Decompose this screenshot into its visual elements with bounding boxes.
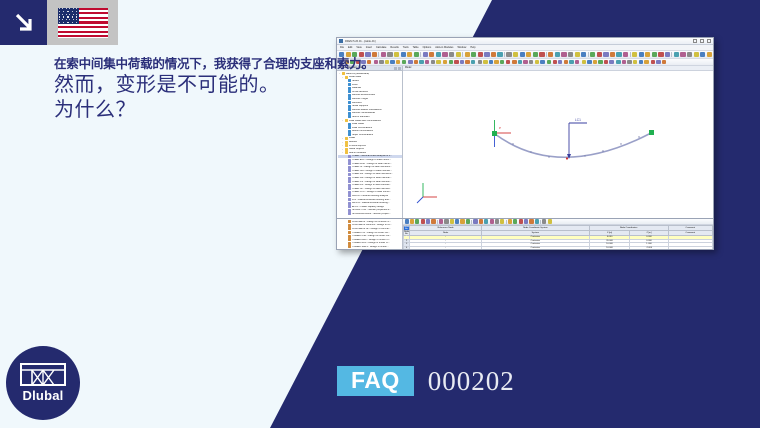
toolbar-button-49[interactable] xyxy=(632,52,637,57)
slide-root: 在索中间集中荷载的情况下，我获得了合理的支座和索力。 然而，变形是不可能的。 为… xyxy=(0,0,760,428)
tree-node-icon xyxy=(348,187,351,190)
toolbar-button-23[interactable] xyxy=(519,219,523,223)
toolbar-separator xyxy=(506,220,507,224)
menu-item-table[interactable]: Table xyxy=(413,46,419,49)
tree-node-icon xyxy=(348,205,351,208)
tree-node-label: STEEL SIA - Design of steel member... xyxy=(352,170,392,172)
tree-node-label: STEEL AISC - Design of steel memb... xyxy=(352,163,392,165)
toolbar-button-24[interactable] xyxy=(484,52,489,57)
minimize-button[interactable] xyxy=(693,39,697,43)
tree-node-label: STEEL AS - Design of steel member... xyxy=(352,184,391,186)
toolbar-button-8[interactable] xyxy=(444,219,448,223)
navigator-panel-buttons[interactable] xyxy=(394,67,402,70)
tree-node-icon xyxy=(348,162,351,165)
toolbar-button-30[interactable] xyxy=(489,60,493,64)
toolbar-button-31[interactable] xyxy=(526,52,531,57)
headline-line-1: 在索中间集中荷载的情况下，我获得了合理的支座和索力。 xyxy=(54,56,354,73)
tree-node-icon xyxy=(348,242,351,245)
toolbar-button-44[interactable] xyxy=(603,52,608,57)
table-cell[interactable] xyxy=(668,246,712,250)
table-row[interactable]: 4-Cartesian10.000-2.000 xyxy=(404,246,713,250)
toolbar-button-1[interactable] xyxy=(410,219,414,223)
toolbar-button-4[interactable] xyxy=(426,219,430,223)
toolbar-button-12[interactable] xyxy=(402,60,406,64)
application-screenshot: RFEM 5.26.01 - [cable-01] FileEditViewIn… xyxy=(336,37,714,250)
toolbar-button-59[interactable] xyxy=(633,60,637,64)
table-top: CONCRETE - Design of concrete m...CONCRE… xyxy=(337,219,713,250)
tree-node-label: TIMBER Pro - Design of timber me... xyxy=(352,232,390,234)
tree-node-label: Loads xyxy=(349,137,355,139)
toolbar-button-23[interactable] xyxy=(478,52,483,57)
toolbar-button-14[interactable] xyxy=(473,219,477,223)
tree-node-icon xyxy=(348,126,351,129)
tree-node-icon xyxy=(348,209,351,212)
toolbar-button-43[interactable] xyxy=(597,52,602,57)
tree-node-label: CONCRETE Columns - Design of co... xyxy=(352,224,392,226)
toolbar-button-26[interactable] xyxy=(535,219,539,223)
table-cell[interactable]: Cartesian xyxy=(481,246,589,250)
menu-item-results[interactable]: Results xyxy=(390,46,398,49)
tree-node-icon xyxy=(348,173,351,176)
toolbar-button-58[interactable] xyxy=(627,60,631,64)
toolbar-button-19[interactable] xyxy=(500,219,504,223)
toolbar-button-52[interactable] xyxy=(652,52,657,57)
toolbar-button-40[interactable] xyxy=(540,60,544,64)
tree-node-label: STEEL GB - Design of steel member... xyxy=(352,177,392,179)
menu-item-file[interactable]: File xyxy=(340,46,344,49)
toolbar-button-28[interactable] xyxy=(506,52,511,57)
toolbar-button-19[interactable] xyxy=(436,60,440,64)
headline-line-2: 然而，变形是不可能的。 xyxy=(54,73,354,98)
tree-node-icon xyxy=(348,155,351,158)
toolbar-separator xyxy=(588,52,589,57)
tree-node-icon xyxy=(348,198,351,201)
menu-item-calculate[interactable]: Calculate xyxy=(376,46,386,49)
app-icon xyxy=(339,39,343,43)
tree-node-label: LTB - Lateral-torsional buckling ana... xyxy=(352,199,391,201)
headline-line-3: 为什么？ xyxy=(54,98,354,123)
tree-expander-icon[interactable]: - xyxy=(341,137,344,140)
tree-node-label: STEEL IS - Design of steel members... xyxy=(352,166,392,168)
toolbar-separator xyxy=(671,52,672,57)
toolbar-button-44[interactable] xyxy=(558,60,562,64)
toolbar-button-7[interactable] xyxy=(374,60,378,64)
toolbar-button-60[interactable] xyxy=(639,60,643,64)
toolbar-separator xyxy=(462,52,463,57)
toolbar-button-36[interactable] xyxy=(518,60,522,64)
toolbar-button-33[interactable] xyxy=(539,52,544,57)
toolbar-button-46[interactable] xyxy=(569,60,573,64)
tree-node-icon xyxy=(348,123,351,126)
tree-expander-icon[interactable]: - xyxy=(341,148,344,151)
toolbar-button-23[interactable] xyxy=(454,60,458,64)
tree-node-label: KAPPA - Flexural buckling analysis xyxy=(352,195,388,197)
toolbar-button-63[interactable] xyxy=(651,60,655,64)
maximize-button[interactable] xyxy=(700,39,704,43)
table-cell[interactable]: 10.000 xyxy=(589,246,630,250)
navigator-lower[interactable]: CONCRETE - Design of concrete m...CONCRE… xyxy=(337,219,403,250)
toolbar-button-17[interactable] xyxy=(442,52,447,57)
tree-node-icon xyxy=(348,166,351,169)
toolbar-button-35[interactable] xyxy=(548,52,553,57)
tree-node-label: STEEL SP - Design of steel member... xyxy=(352,188,391,190)
toolbar-button-29[interactable] xyxy=(548,219,552,223)
tree-node-label: Load Combinations xyxy=(352,127,372,129)
toolbar-button-60[interactable] xyxy=(700,52,705,57)
toolbar-button-22[interactable] xyxy=(449,60,453,64)
tree-node-icon xyxy=(348,202,351,205)
toolbar-button-8[interactable] xyxy=(379,60,383,64)
tree-node-label: STEEL - General stress analysis of s... xyxy=(352,155,392,157)
toolbar-button-28[interactable] xyxy=(542,219,546,223)
tree-node-label: Result Combinations xyxy=(352,130,373,132)
tree-node-icon xyxy=(345,141,348,144)
faq-badge: FAQ xyxy=(337,366,414,396)
table-right: Node No.Reference NodeNode Coordinate Sy… xyxy=(403,219,713,250)
navigator-tree-item[interactable]: TIMBER SANS - Design of timber ... xyxy=(338,245,402,249)
toolbar-button-16[interactable] xyxy=(436,52,441,57)
toolbar-button-24[interactable] xyxy=(524,219,528,223)
cable-model-graphic: LC1 P xyxy=(403,71,713,218)
toolbar-button-25[interactable] xyxy=(529,219,533,223)
toolbar-button-11[interactable] xyxy=(396,60,400,64)
tree-node-icon xyxy=(345,148,348,151)
window-titlebar: RFEM 5.26.01 - [cable-01] xyxy=(337,38,713,45)
tree-node-icon xyxy=(348,238,351,241)
toolbar-button-49[interactable] xyxy=(582,60,586,64)
tree-node-label: SHAPE-MASSIVE - Section propert... xyxy=(352,213,391,215)
tree-node-label: Load Cases xyxy=(352,123,364,125)
faq-number: 000202 xyxy=(428,368,515,395)
toolbar-button-16[interactable] xyxy=(419,60,423,64)
toolbar-button-11[interactable] xyxy=(460,219,464,223)
toolbar-separator xyxy=(471,220,472,224)
toolbar-button-7[interactable] xyxy=(381,52,386,57)
tree-expander-icon[interactable]: - xyxy=(341,141,344,144)
toolbar-button-42[interactable] xyxy=(590,52,595,57)
toolbar-button-15[interactable] xyxy=(479,219,483,223)
toolbar-button-32[interactable] xyxy=(533,52,538,57)
table-cell[interactable]: -2.000 xyxy=(630,246,668,250)
toolbar-button-39[interactable] xyxy=(535,60,539,64)
dlubal-frame-icon xyxy=(20,363,66,386)
menu-item-window[interactable]: Window xyxy=(457,46,466,49)
toolbar-button-57[interactable] xyxy=(622,60,626,64)
toolbar-button-30[interactable] xyxy=(520,52,525,57)
toolbar-button-50[interactable] xyxy=(587,60,591,64)
toolbar-separator xyxy=(420,52,421,57)
toolbar-button-53[interactable] xyxy=(658,52,663,57)
tree-node-label: STEEL EC3 - Design of steel memb... xyxy=(352,159,391,161)
toolbar-separator xyxy=(540,220,541,224)
toolbar-button-32[interactable] xyxy=(500,60,504,64)
toolbar-button-51[interactable] xyxy=(645,52,650,57)
tree-node-icon xyxy=(348,191,351,194)
toolbar-button-17[interactable] xyxy=(425,60,429,64)
toolbar-button-12[interactable] xyxy=(414,52,419,57)
dlubal-logo: Dlubal xyxy=(6,346,80,420)
tree-expander-icon[interactable]: - xyxy=(341,151,344,154)
toolbar-button-9[interactable] xyxy=(394,52,399,57)
toolbar-button-46[interactable] xyxy=(616,52,621,57)
tree-node-label: STEEL NTC - Design of steel memb... xyxy=(352,191,391,193)
table-cell[interactable]: - xyxy=(410,246,482,250)
toolbar-button-15[interactable] xyxy=(429,52,434,57)
tree-node-label: EL-PL - Plastic capacity design xyxy=(352,206,384,208)
toolbar-button-56[interactable] xyxy=(674,52,679,57)
toolbar-button-45[interactable] xyxy=(610,52,615,57)
toolbar-button-36[interactable] xyxy=(555,52,560,57)
toolbar-button-15[interactable] xyxy=(414,60,418,64)
toolbar-button-43[interactable] xyxy=(553,60,557,64)
tree-node-label: Member Eccentricities xyxy=(352,94,375,96)
toolbar-button-38[interactable] xyxy=(568,52,573,57)
toolbar-button-31[interactable] xyxy=(494,60,498,64)
toolbar-button-22[interactable] xyxy=(471,52,476,57)
tree-node-label: FE-LTB - Lateral-torsional buckling... xyxy=(352,202,390,204)
tree-node-icon xyxy=(348,245,351,248)
main-toolbar[interactable] xyxy=(337,51,713,59)
menu-item-insert[interactable]: Insert xyxy=(366,46,372,49)
tree-node-label: STEEL CS - Design of steel member... xyxy=(352,181,392,183)
toolbar-button-37[interactable] xyxy=(561,52,566,57)
tree-node-icon xyxy=(348,169,351,172)
language-flag-box[interactable] xyxy=(47,0,118,45)
toolbar-button-7[interactable] xyxy=(439,219,443,223)
tree-node-label: Results xyxy=(349,141,357,143)
window-title: RFEM 5.26.01 - [cable-01] xyxy=(345,40,375,43)
toolbar-button-10[interactable] xyxy=(401,52,406,57)
tree-node-icon xyxy=(348,212,351,215)
toolbar-button-29[interactable] xyxy=(483,60,487,64)
toolbar-button-21[interactable] xyxy=(508,219,512,223)
toolbar-button-3[interactable] xyxy=(421,219,425,223)
toolbar-button-14[interactable] xyxy=(423,52,428,57)
svg-text:LC1: LC1 xyxy=(575,118,581,122)
toolbar-button-21[interactable] xyxy=(443,60,447,64)
tree-node-label: Printout Reports xyxy=(349,145,366,147)
toolbar-button-47[interactable] xyxy=(575,60,579,64)
tree-node-icon xyxy=(345,144,348,147)
tree-node-label: Cross-Sections xyxy=(352,91,368,93)
tree-node-icon xyxy=(348,130,351,133)
tree-node-label: TIMBER NDS - Design of timber m... xyxy=(352,242,390,244)
toolbar-button-37[interactable] xyxy=(523,60,527,64)
tree-node-icon xyxy=(348,235,351,238)
toolbar-button-9[interactable] xyxy=(450,219,454,223)
toolbar-separator xyxy=(504,52,505,57)
tree-node-icon xyxy=(348,231,351,234)
table-panel: CONCRETE - Design of concrete m...CONCRE… xyxy=(337,218,713,250)
toolbar-button-21[interactable] xyxy=(465,52,470,57)
menu-item-help[interactable]: Help xyxy=(470,46,475,49)
toolbar-button-5[interactable] xyxy=(431,219,435,223)
dlubal-logo-text: Dlubal xyxy=(23,388,64,403)
toolbar-button-61[interactable] xyxy=(644,60,648,64)
tree-node-label: Guide Objects xyxy=(349,148,364,150)
menu-item-options[interactable]: Options xyxy=(423,46,432,49)
navigator-tree-item[interactable]: SHAPE-MASSIVE - Section propert... xyxy=(338,212,402,216)
tree-node-label: Add-on Modules xyxy=(349,152,366,154)
tree-node-label: TIMBER AWC - Design of timber m... xyxy=(352,239,390,241)
toolbar-button-10[interactable] xyxy=(455,219,459,223)
tree-node-label: Member Elastic Foundations xyxy=(352,109,382,111)
toolbar-button-64[interactable] xyxy=(656,60,660,64)
tree-node-icon xyxy=(348,224,351,227)
tree-node-label: TIMBER SANS - Design of timber ... xyxy=(352,246,389,248)
toolbar-button-19[interactable] xyxy=(456,52,461,57)
toolbar-button-10[interactable] xyxy=(390,60,394,64)
tree-node-icon xyxy=(345,151,348,154)
tree-node-label: TIMBER CSA - Design of timber me... xyxy=(352,235,391,237)
arrow-down-right-icon xyxy=(0,0,47,45)
tree-node-label: Member Nonlinearities xyxy=(352,112,375,114)
tree-node-label: CONCRETE NL - Design of concret... xyxy=(352,228,391,230)
toolbar-button-22[interactable] xyxy=(513,219,517,223)
tree-node-label: Nodal Supports xyxy=(352,105,368,107)
toolbar-button-40[interactable] xyxy=(581,52,586,57)
model-viewport[interactable]: Model xyxy=(403,66,713,218)
tree-node-icon xyxy=(348,177,351,180)
toolbar-button-38[interactable] xyxy=(529,60,533,64)
tree-node-label: CONCRETE - Design of concrete m... xyxy=(352,221,391,223)
toolbar-button-65[interactable] xyxy=(662,60,666,64)
toolbar-button-28[interactable] xyxy=(478,60,482,64)
toolbar-button-16[interactable] xyxy=(484,219,488,223)
toolbar-button-58[interactable] xyxy=(687,52,692,57)
menu-item-view[interactable]: View xyxy=(356,46,361,49)
close-button[interactable] xyxy=(707,39,711,43)
toolbar-button-11[interactable] xyxy=(407,52,412,57)
faq-block: FAQ 000202 xyxy=(337,366,515,396)
toolbar-button-9[interactable] xyxy=(385,60,389,64)
toolbar-separator xyxy=(437,220,438,224)
toolbar-separator xyxy=(630,52,631,57)
toolbar-button-45[interactable] xyxy=(564,60,568,64)
toolbar-button-26[interactable] xyxy=(471,60,475,64)
tree-node-icon xyxy=(348,184,351,187)
secondary-toolbar[interactable] xyxy=(337,59,713,66)
toolbar-button-35[interactable] xyxy=(512,60,516,64)
toolbar-button-18[interactable] xyxy=(495,219,499,223)
toolbar-button-39[interactable] xyxy=(575,52,580,57)
toolbar-button-0[interactable] xyxy=(405,219,409,223)
toolbar-separator xyxy=(546,52,547,57)
tree-node-icon xyxy=(345,137,348,140)
tree-node-icon xyxy=(348,180,351,183)
toolbar-button-52[interactable] xyxy=(598,60,602,64)
toolbar-button-61[interactable] xyxy=(707,52,712,57)
toolbar-button-51[interactable] xyxy=(593,60,597,64)
tree-node-label: Super Combinations xyxy=(352,134,373,136)
toolbar-button-53[interactable] xyxy=(604,60,608,64)
tree-node-label: SHAPE-THIN - Section properties a... xyxy=(352,209,391,211)
table-body[interactable]: 1-Cartesian0.0000.0002-Cartesian20.0000.… xyxy=(404,236,713,250)
toolbar-button-29[interactable] xyxy=(513,52,518,57)
toolbar-button-25[interactable] xyxy=(491,52,496,57)
tree-node-label: Sets of Members xyxy=(352,116,370,118)
navigator-tree-lower[interactable]: CONCRETE - Design of concrete m...CONCRE… xyxy=(337,219,402,249)
toolbar-button-24[interactable] xyxy=(460,60,464,64)
toolbar-button-57[interactable] xyxy=(680,52,685,57)
toolbar-button-33[interactable] xyxy=(506,60,510,64)
menu-item-edit[interactable]: Edit xyxy=(348,46,352,49)
toolbar-button-17[interactable] xyxy=(490,219,494,223)
tree-expander-icon[interactable]: - xyxy=(341,144,344,147)
toolbar-button-47[interactable] xyxy=(623,52,628,57)
toolbar-button-18[interactable] xyxy=(431,60,435,64)
menu-item-tools[interactable]: Tools xyxy=(403,46,409,49)
toolbar-button-14[interactable] xyxy=(408,60,412,64)
tree-node-icon xyxy=(348,220,351,223)
toolbar-button-54[interactable] xyxy=(609,60,613,64)
svg-text:P: P xyxy=(499,126,501,130)
toolbar-button-8[interactable] xyxy=(387,52,392,57)
toolbar-button-42[interactable] xyxy=(547,60,551,64)
tree-node-icon xyxy=(348,159,351,162)
toolbar-button-50[interactable] xyxy=(639,52,644,57)
window-controls[interactable] xyxy=(693,39,711,43)
tree-node-icon xyxy=(348,133,351,136)
tree-node-label: Member Hinges xyxy=(352,98,368,100)
menu-item-add-on-modules[interactable]: Add-on Modules xyxy=(435,46,453,49)
toolbar-button-56[interactable] xyxy=(616,60,620,64)
window-body: Project Navigator - Data -cable-01 [dlub… xyxy=(337,66,713,218)
us-flag-icon xyxy=(58,8,108,38)
toolbar-button-18[interactable] xyxy=(449,52,454,57)
toolbar-button-54[interactable] xyxy=(665,52,670,57)
tree-node-label: STEEL BS - Design of steel members... xyxy=(352,173,393,175)
toolbar-button-25[interactable] xyxy=(465,60,469,64)
toolbar-button-2[interactable] xyxy=(415,219,419,223)
toolbar-button-59[interactable] xyxy=(694,52,699,57)
toolbar-separator xyxy=(378,52,379,57)
toolbar-button-26[interactable] xyxy=(497,52,502,57)
nodes-table[interactable]: Node No.Reference NodeNode Coordinate Sy… xyxy=(403,225,713,250)
headline: 在索中间集中荷载的情况下，我获得了合理的支座和索力。 然而，变形是不可能的。 为… xyxy=(54,56,354,123)
toolbar-button-12[interactable] xyxy=(466,219,470,223)
